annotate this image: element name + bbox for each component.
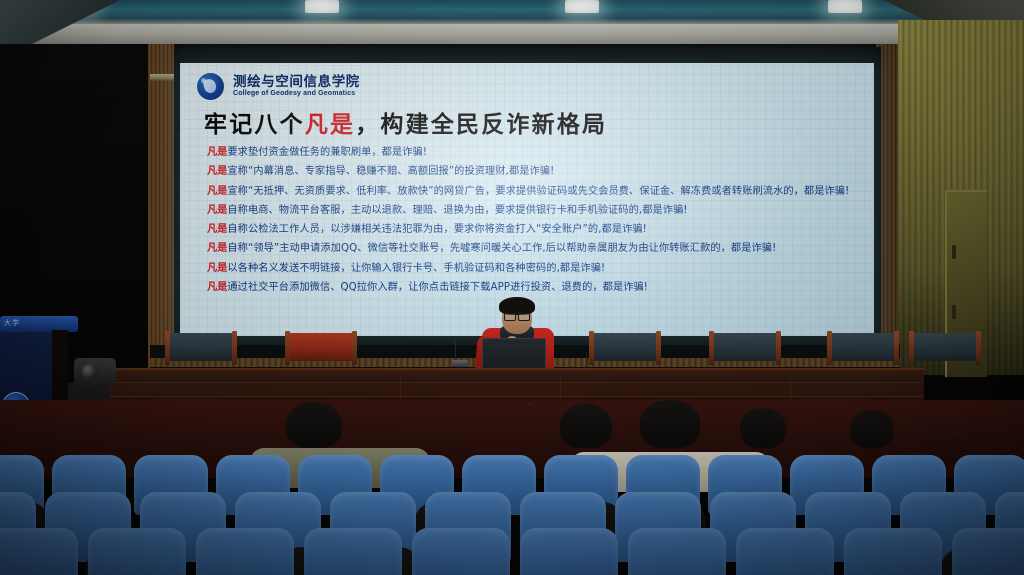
- lecture-hall-photo: 测绘与空间信息学院 College of Geodesy and Geomati…: [0, 0, 1024, 575]
- ceiling-soffit: [0, 24, 1024, 46]
- door-handle-icon: [952, 245, 956, 259]
- college-name-cn: 测绘与空间信息学院: [233, 75, 360, 89]
- audience-seat: [88, 528, 186, 575]
- bullet-text: 宣称“内幕消息、专家指导、稳赚不赔、高额回报”的投资理财,都是诈骗!: [227, 166, 554, 177]
- stage-chair: [592, 333, 658, 365]
- bullet-tag: 凡是: [207, 224, 227, 235]
- slide-bullet-list: 凡是要求垫付资金做任务的兼职刷单，都是诈骗!凡是宣称“内幕消息、专家指导、稳赚不…: [207, 146, 857, 300]
- audience-head: [740, 408, 786, 448]
- glasses-icon: [504, 313, 530, 319]
- slide-bullet: 凡是以各种名义发送不明链接，让你输入银行卡号、手机验证码和各种密码的,都是诈骗!: [207, 262, 857, 275]
- stage-chair: [912, 333, 978, 365]
- slide-bullet: 凡是宣称“无抵押、无资质要求、低利率、放款快”的网贷广告，要求提供验证码或先交会…: [207, 185, 857, 198]
- slide-bullet: 凡是自称“领导”主动申请添加QQ、微信等社交账号，先嘘寒问暖关心工作,后以帮助亲…: [207, 242, 857, 255]
- audience-seat: [952, 528, 1024, 575]
- wood-trim-left: [148, 44, 174, 374]
- stage-chair: [830, 333, 896, 365]
- slide-logo: 测绘与空间信息学院 College of Geodesy and Geomati…: [196, 72, 360, 101]
- slide-bullet: 凡是要求垫付资金做任务的兼职刷单，都是诈骗!: [207, 146, 857, 159]
- bullet-tag: 凡是: [207, 243, 227, 254]
- title-suffix: ，构建全民反诈新格局: [355, 112, 607, 138]
- stage-chair: [168, 333, 234, 365]
- slide-bullet: 凡是宣称“内幕消息、专家指导、稳赚不赔、高额回报”的投资理财,都是诈骗!: [207, 165, 857, 178]
- bullet-text: 自称“领导”主动申请添加QQ、微信等社交账号，先嘘寒问暖关心工作,后以帮助亲属朋…: [227, 243, 776, 254]
- bullet-text: 通过社交平台添加微信、QQ拉你入群，让你点击链接下载APP进行投资、退费的，都是…: [227, 282, 648, 293]
- bullet-tag: 凡是: [207, 205, 227, 216]
- audience-seat: [412, 528, 510, 575]
- bullet-tag: 凡是: [207, 186, 227, 197]
- stage-chair: [288, 333, 354, 365]
- bullet-tag: 凡是: [207, 166, 227, 177]
- mic-base: [452, 360, 468, 367]
- audience-seat: [736, 528, 834, 575]
- bullet-text: 自称电商、物流平台客服，主动以退款、理赔、退换为由，要求提供银行卡和手机验证码的…: [227, 205, 687, 216]
- college-name-en: College of Geodesy and Geomatics: [233, 90, 360, 98]
- title-highlight: 凡是: [305, 112, 355, 138]
- title-prefix: 牢记八个: [204, 112, 305, 138]
- audience-seat: [520, 528, 618, 575]
- audience-head: [560, 404, 612, 448]
- audience-seat: [628, 528, 726, 575]
- audience-head: [850, 410, 894, 448]
- audience-seat: [196, 528, 294, 575]
- ceiling-light: [305, 0, 339, 13]
- bullet-text: 自称公检法工作人员，以涉嫌相关违法犯罪为由，要求你将资金打入“安全账户”的,都是…: [227, 224, 647, 235]
- bullet-text: 宣称“无抵押、无资质要求、低利率、放款快”的网贷广告，要求提供验证码或先交会员费…: [227, 186, 849, 197]
- lectern-inscription: 大学: [4, 318, 20, 328]
- bullet-text: 要求垫付资金做任务的兼职刷单，都是诈骗!: [227, 147, 427, 158]
- slide-bullet: 凡是通过社交平台添加微信、QQ拉你入群，让你点击链接下载APP进行投资、退费的，…: [207, 281, 857, 294]
- slide-bullet: 凡是自称公检法工作人员，以涉嫌相关违法犯罪为由，要求你将资金打入“安全账户”的,…: [207, 223, 857, 236]
- camera-lens-icon: [82, 364, 97, 379]
- ceiling-light: [828, 0, 862, 13]
- audience-seat: [844, 528, 942, 575]
- audience-seat: [0, 528, 78, 575]
- bullet-tag: 凡是: [207, 263, 227, 274]
- bullet-text: 以各种名义发送不明链接，让你输入银行卡号、手机验证码和各种密码的,都是诈骗!: [227, 263, 605, 274]
- university-crest-icon: [196, 72, 225, 101]
- audience-seat: [304, 528, 402, 575]
- slide-title: 牢记八个凡是，构建全民反诈新格局: [204, 105, 607, 139]
- door-handle-icon: [952, 305, 956, 319]
- slide-bullet: 凡是自称电商、物流平台客服，主动以退款、理赔、退换为由，要求提供银行卡和手机验证…: [207, 204, 857, 217]
- bullet-tag: 凡是: [207, 147, 227, 158]
- ceiling-light: [565, 0, 599, 13]
- audience-head: [640, 400, 700, 448]
- stage-chair: [712, 333, 778, 365]
- audience-head: [286, 402, 342, 448]
- bullet-tag: 凡是: [207, 282, 227, 293]
